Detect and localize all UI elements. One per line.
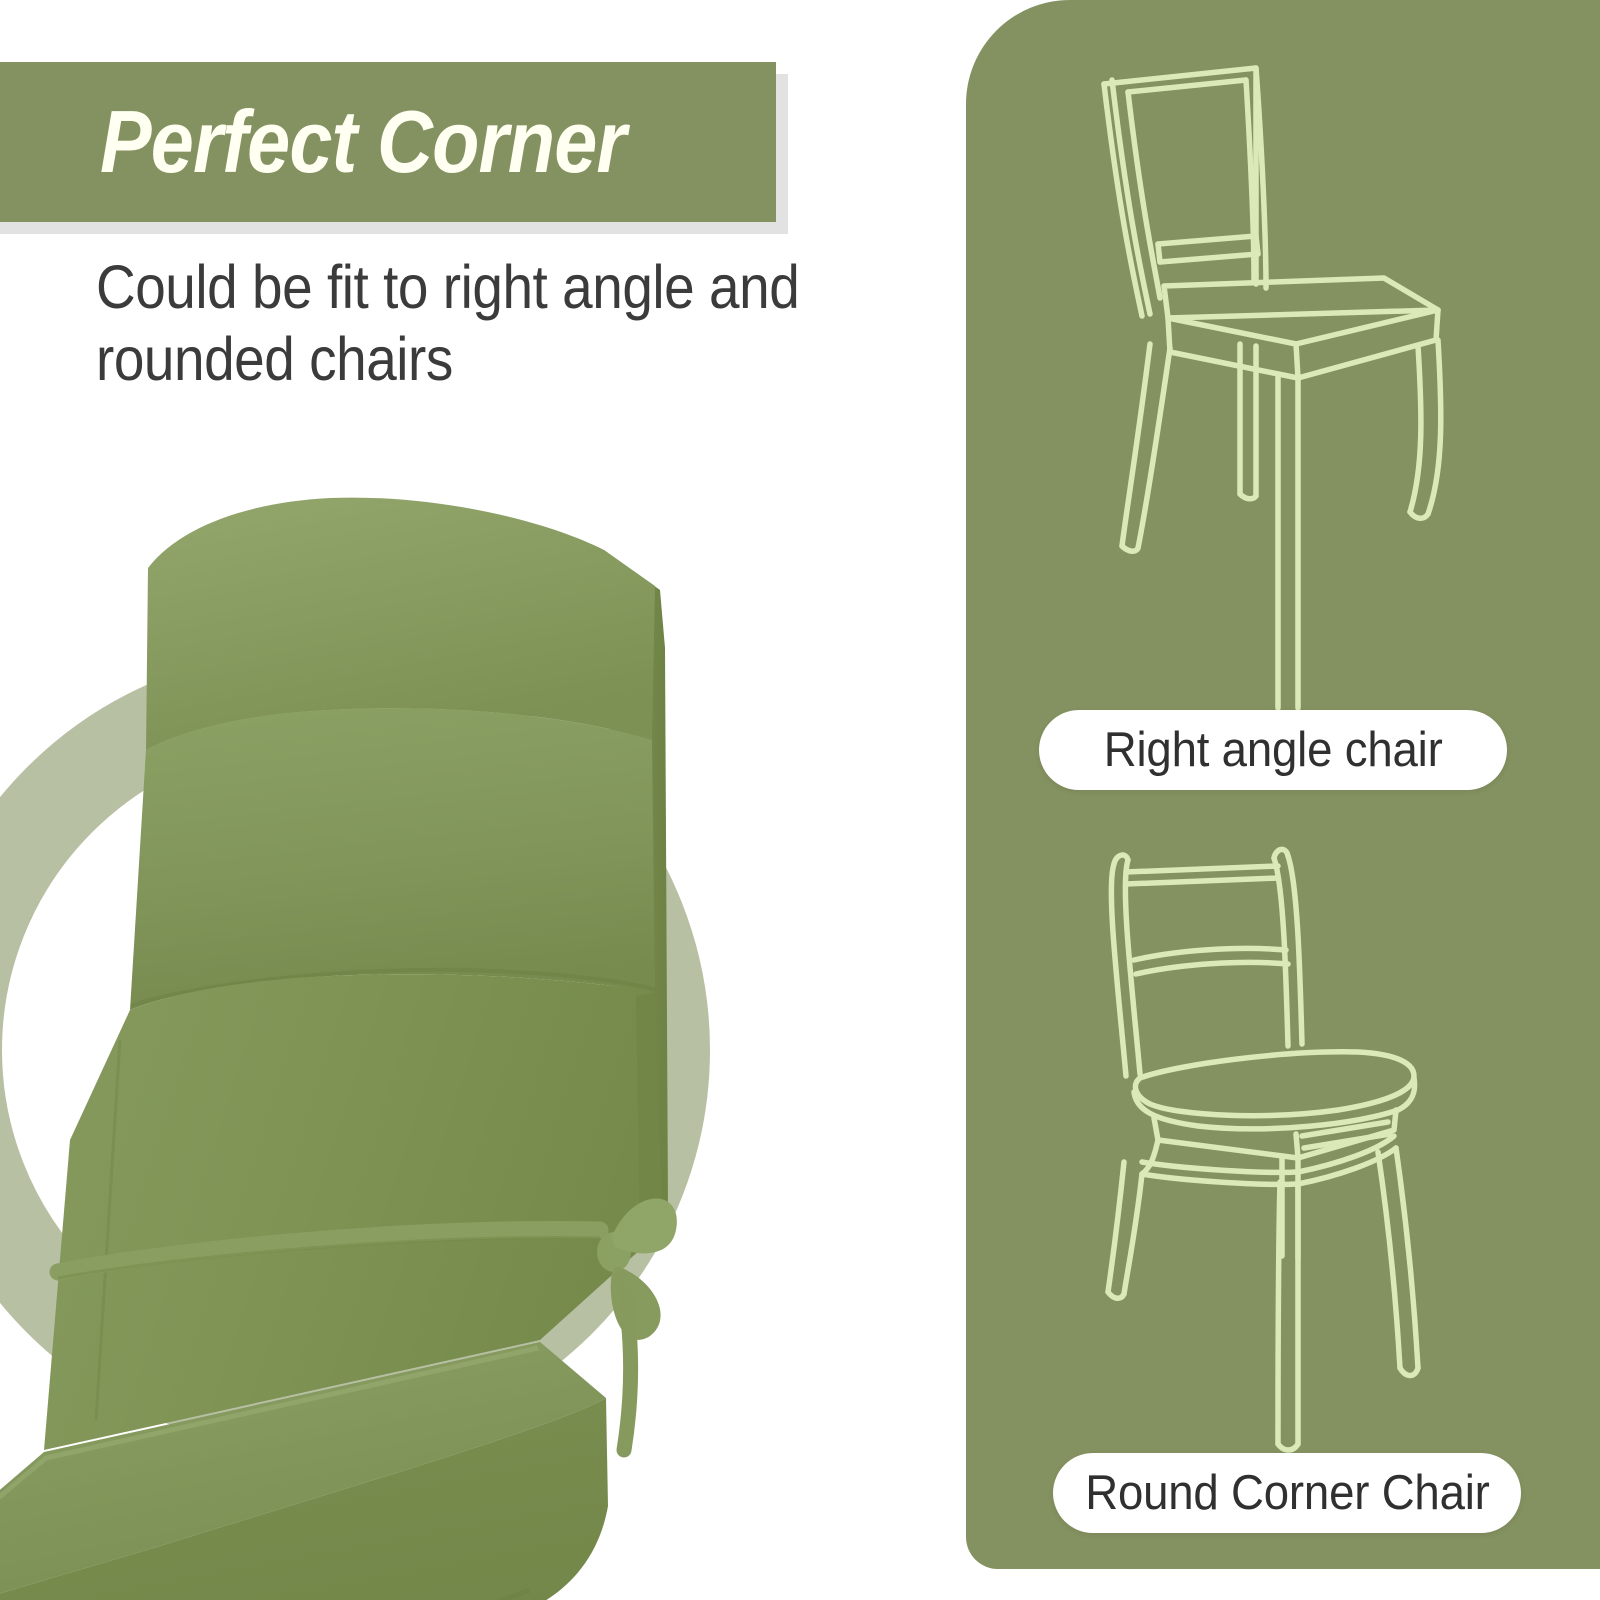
label-pill-round-corner-chair: Round Corner Chair xyxy=(1053,1453,1521,1533)
label-pill-right-angle-chair: Right angle chair xyxy=(1039,710,1507,790)
subtitle-block: Could be fit to right angle and rounded … xyxy=(96,252,926,396)
title-banner: Perfect Corner xyxy=(0,62,776,222)
page-title: Perfect Corner xyxy=(100,98,626,186)
subtitle-line-1: Could be fit to right angle and xyxy=(96,252,843,324)
subtitle-line-2: rounded chairs xyxy=(96,324,843,396)
chair-square-back-icon xyxy=(1060,48,1480,718)
cushion-bow-tail xyxy=(622,1278,631,1450)
pill-label-text: Round Corner Chair xyxy=(1085,1465,1489,1521)
infographic-canvas: Perfect Corner Could be fit to right ang… xyxy=(0,0,1600,1600)
cushion-headrest-face xyxy=(130,708,655,1010)
pill-label-text: Right angle chair xyxy=(1104,722,1443,778)
product-image-chair-cushion xyxy=(0,440,740,1600)
chair-round-back-icon xyxy=(1058,828,1478,1458)
